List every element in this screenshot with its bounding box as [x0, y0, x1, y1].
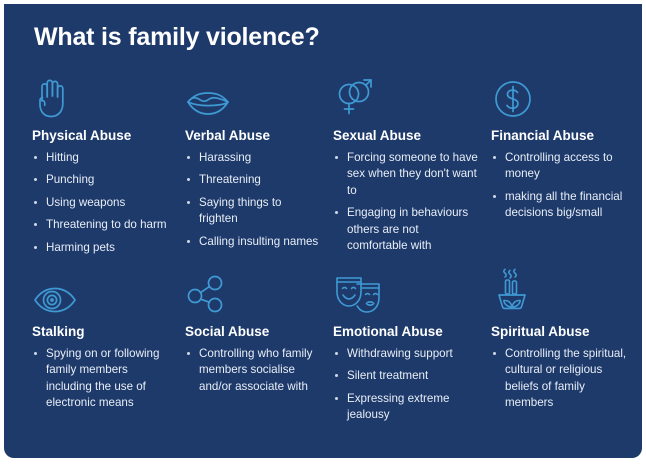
list-item: Harming pets [30, 240, 175, 256]
open-hand-icon [32, 68, 175, 120]
category-title: Verbal Abuse [185, 128, 323, 145]
theatre-masks-icon [333, 264, 481, 316]
list-item: Expressing extreme jealousy [331, 391, 481, 424]
category-row-bottom: Stalking Spying on or following family m… [30, 264, 620, 430]
list-item: Threatening to do harm [30, 217, 175, 233]
list-item: Threatening [183, 172, 323, 188]
category-list: Hitting Punching Using weapons Threateni… [30, 150, 175, 256]
category-title: Physical Abuse [32, 128, 175, 145]
category-list: Withdrawing support Silent treatment Exp… [331, 346, 481, 424]
category-title: Emotional Abuse [333, 324, 481, 341]
category-financial-abuse: Financial Abuse Controlling access to mo… [489, 68, 642, 262]
list-item: Hitting [30, 150, 175, 166]
category-list: Controlling who family members socialise… [183, 346, 323, 395]
list-item: Harassing [183, 150, 323, 166]
list-item: Calling insulting names [183, 234, 323, 250]
lips-icon [185, 68, 323, 120]
category-emotional-abuse: Emotional Abuse Withdrawing support Sile… [331, 264, 489, 430]
category-list: Harassing Threatening Saying things to f… [183, 150, 323, 250]
list-item: Forcing someone to have sex when they do… [331, 150, 481, 199]
category-title: Social Abuse [185, 324, 323, 341]
list-item: Controlling the spiritual, cultural or r… [489, 346, 636, 412]
list-item: Using weapons [30, 195, 175, 211]
list-item: Engaging in behaviours others are not co… [331, 205, 481, 254]
category-title: Spiritual Abuse [491, 324, 636, 341]
category-sexual-abuse: Sexual Abuse Forcing someone to have sex… [331, 68, 489, 262]
page-title: What is family violence? [34, 22, 620, 52]
share-network-icon [185, 264, 323, 316]
category-list: Forcing someone to have sex when they do… [331, 150, 481, 255]
category-physical-abuse: Physical Abuse Hitting Punching Using we… [30, 68, 183, 262]
category-title: Sexual Abuse [333, 128, 481, 145]
category-stalking: Stalking Spying on or following family m… [30, 264, 183, 430]
category-list: Controlling the spiritual, cultural or r… [489, 346, 636, 412]
list-item: Silent treatment [331, 368, 481, 384]
list-item: Punching [30, 172, 175, 188]
category-title: Stalking [32, 324, 175, 341]
incense-burner-icon [491, 264, 636, 316]
list-item: Controlling access to money [489, 150, 636, 183]
gender-symbols-icon [333, 68, 481, 120]
dollar-circle-icon [491, 68, 636, 120]
list-item: Spying on or following family members in… [30, 346, 175, 412]
category-list: Controlling access to money making all t… [489, 150, 636, 222]
category-row-top: Physical Abuse Hitting Punching Using we… [30, 68, 620, 262]
category-verbal-abuse: Verbal Abuse Harassing Threatening Sayin… [183, 68, 331, 262]
category-list: Spying on or following family members in… [30, 346, 175, 412]
eye-icon [32, 264, 175, 316]
category-spiritual-abuse: Spiritual Abuse Controlling the spiritua… [489, 264, 642, 430]
category-title: Financial Abuse [491, 128, 636, 145]
list-item: Controlling who family members socialise… [183, 346, 323, 395]
infographic-panel: What is family violence? Physical Abuse … [4, 4, 642, 458]
list-item: Withdrawing support [331, 346, 481, 362]
infographic-root: What is family violence? Physical Abuse … [0, 0, 646, 464]
list-item: making all the financial decisions big/s… [489, 189, 636, 222]
list-item: Saying things to frighten [183, 195, 323, 228]
category-social-abuse: Social Abuse Controlling who family memb… [183, 264, 331, 430]
